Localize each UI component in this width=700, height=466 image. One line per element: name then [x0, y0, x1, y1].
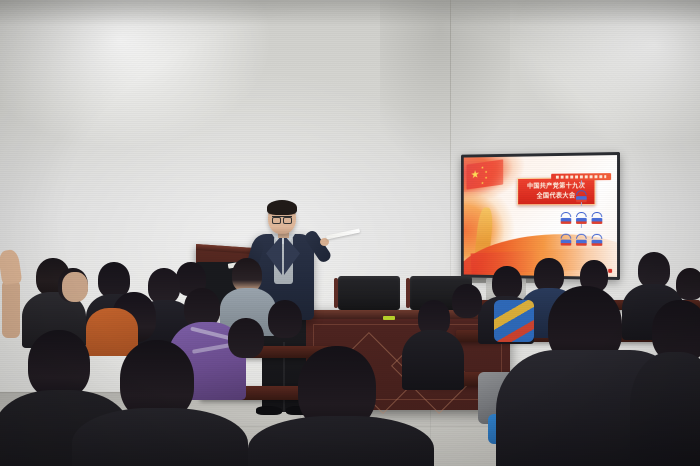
flag-star-icon [485, 170, 488, 173]
raised-arm [2, 280, 20, 338]
org-node-arc [591, 212, 602, 217]
org-node-chip [576, 196, 587, 202]
org-node [576, 234, 587, 246]
org-node [591, 212, 602, 224]
org-node-chip [591, 240, 602, 246]
audience-head [148, 268, 180, 304]
audience-head [534, 258, 564, 292]
org-connector [580, 180, 581, 184]
org-node-arc [560, 212, 571, 217]
speaker-head [268, 201, 296, 234]
org-node [576, 190, 587, 202]
org-node-arc [576, 234, 587, 239]
audience-body [86, 308, 138, 356]
flag-star-icon [481, 166, 484, 169]
audience-head [268, 300, 302, 338]
audience-head [452, 284, 482, 318]
org-node-chip [576, 218, 587, 224]
org-connector [580, 202, 581, 206]
org-node [591, 234, 602, 246]
flag-star-icon [471, 170, 479, 180]
audience-head [28, 330, 90, 398]
org-node-chip [560, 240, 571, 246]
org-node [560, 212, 571, 224]
org-connector [580, 224, 581, 228]
lecture-hall-photo: 中国共产党第十九次 全国代表大会 [0, 0, 700, 466]
audience-body [630, 352, 700, 466]
org-chart-row [551, 190, 611, 202]
speaker-shoe [256, 406, 282, 415]
org-node-arc [576, 212, 587, 217]
org-node-chip [591, 218, 602, 224]
org-node [576, 212, 587, 224]
audience-head [638, 252, 670, 288]
ceiling-shadow [0, 0, 700, 26]
org-node-arc [591, 234, 602, 239]
org-node [560, 234, 571, 246]
audience-face [62, 272, 88, 302]
audience-body [72, 408, 248, 466]
audience-head [492, 266, 522, 300]
prc-flag-icon [466, 159, 503, 189]
org-node-chip [560, 218, 571, 224]
audience-body [248, 416, 434, 466]
org-node-arc [576, 190, 587, 195]
audience-body [402, 330, 464, 390]
stage-chair[interactable] [338, 276, 400, 310]
eyeglasses-icon [272, 216, 292, 222]
flag-star-icon [485, 176, 488, 179]
audience-head [676, 268, 700, 300]
org-chart-row [551, 212, 611, 224]
backpack [494, 300, 534, 342]
org-chart-row [551, 234, 611, 246]
flag-star-icon [481, 181, 484, 184]
desk-object [383, 316, 395, 320]
presentation-slide: 中国共产党第十九次 全国代表大会 [464, 155, 617, 277]
slide-org-chart [551, 173, 611, 265]
org-node-chip [576, 240, 587, 246]
org-node-arc [560, 234, 571, 239]
audience-head [228, 318, 264, 358]
audience-head [232, 258, 262, 292]
speaker-hair [267, 200, 297, 215]
